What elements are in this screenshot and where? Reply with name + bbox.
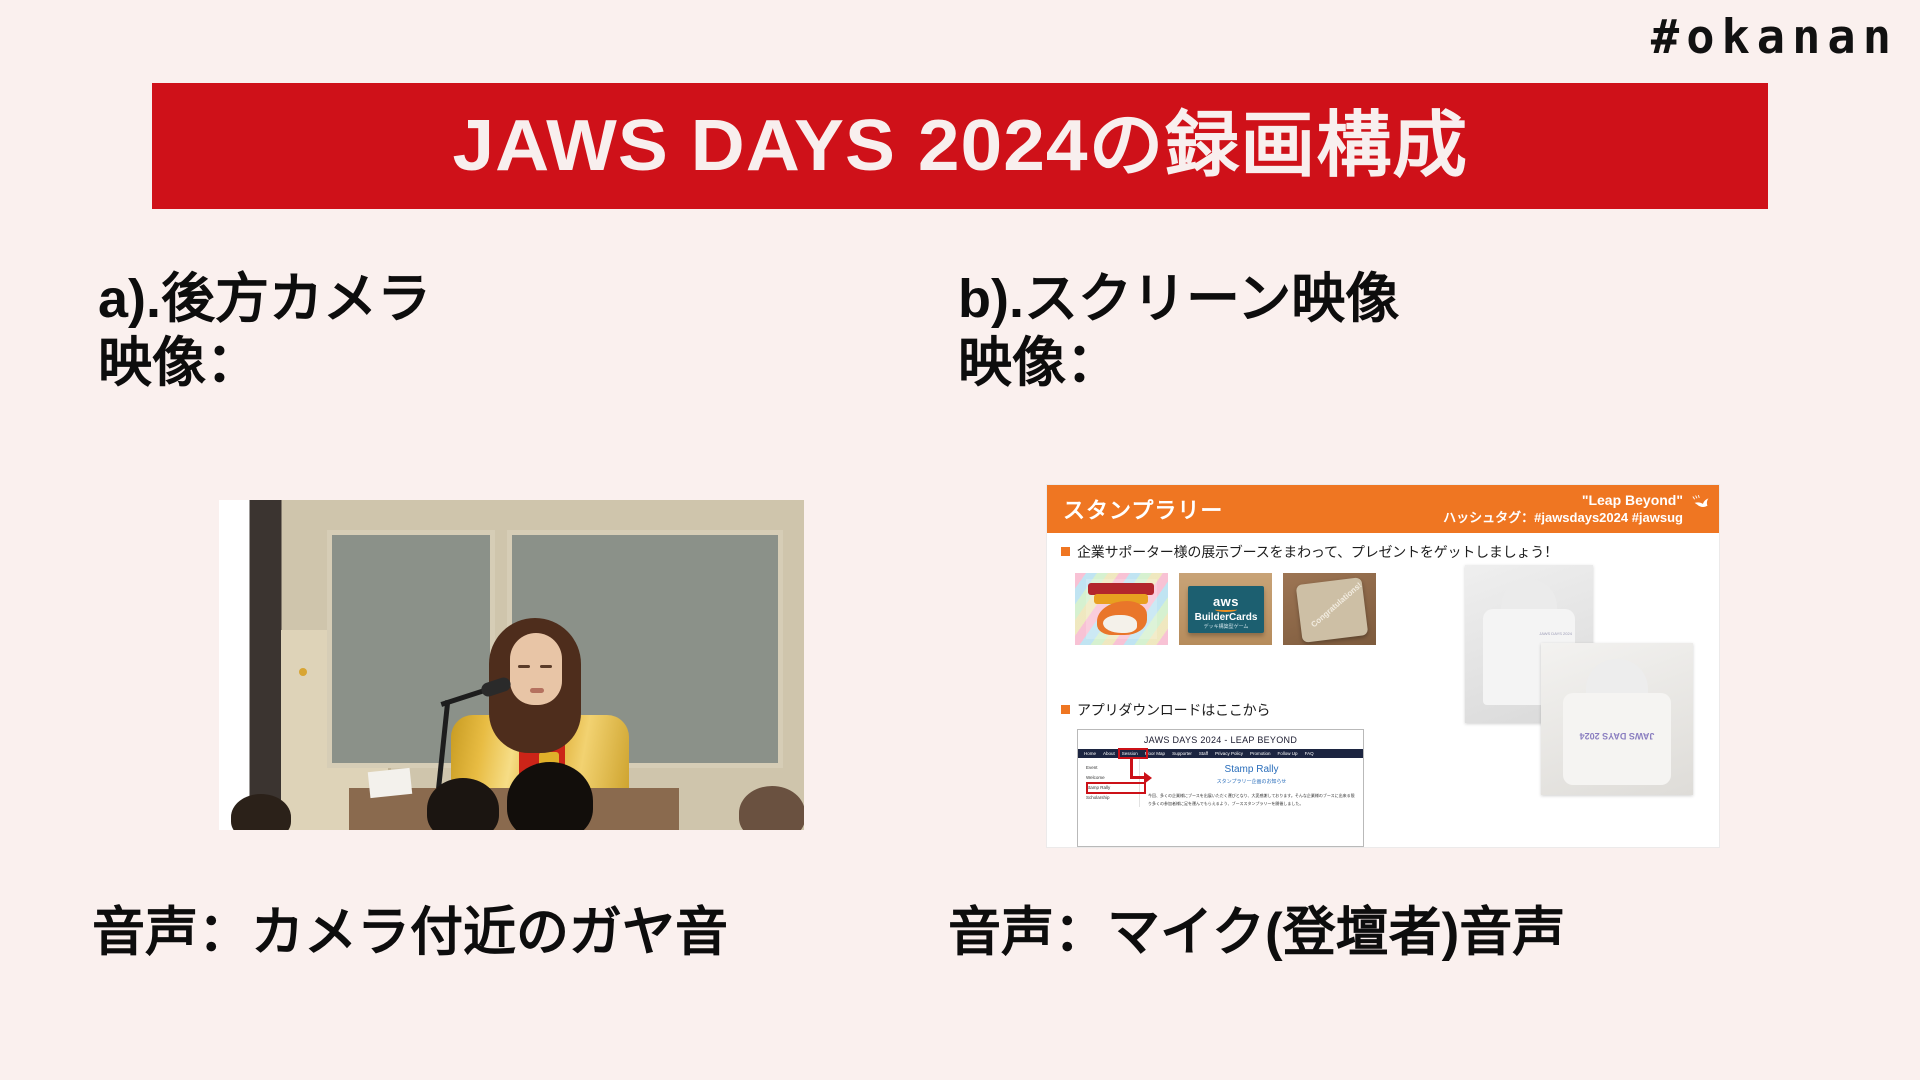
column-b-photo: スタンプラリー "Leap Beyond" ハッシュタグ：#jawsdays20… — [1046, 484, 1720, 848]
buildercards-title: BuilderCards — [1188, 612, 1264, 623]
captured-slide-tagline: "Leap Beyond" — [1443, 492, 1683, 510]
captured-slide-title: スタンプラリー — [1063, 493, 1223, 525]
browser-nav-faq[interactable]: FAQ — [1305, 751, 1314, 756]
captured-slide-bullet-1: 企業サポーター様の展示ブースをまわって、プレゼントをゲットしましょう！ — [1047, 542, 1719, 562]
browser-nav-staff[interactable]: Staff — [1199, 751, 1208, 756]
captured-slide-bullet-2: アプリダウンロードはここから — [1047, 700, 1270, 720]
hoodie-chest-print: JAWS DAYS 2024 — [1539, 631, 1572, 636]
browser-page-title: JAWS DAYS 2024 - LEAP BEYOND — [1078, 730, 1363, 749]
browser-nav-home[interactable]: Home — [1084, 751, 1096, 756]
column-a-photo — [219, 500, 804, 830]
page-title: JAWS DAYS 2024の録画構成 — [452, 110, 1468, 182]
prize-photo-row: aws BuilderCards デッキ構築型ゲーム Congratulatio… — [1075, 573, 1376, 645]
column-a-heading: a).後方カメラ 映像： — [98, 268, 431, 395]
photo-speaker-mouth — [530, 688, 544, 693]
column-b-heading: b).スクリーン映像 映像： — [958, 268, 1399, 395]
prize-sticker-photo — [1075, 573, 1168, 645]
prize-hoodie-back-photo: JAWS DAYS 2024 — [1541, 643, 1693, 795]
column-a-caption: 音声：カメラ付近のガヤ音 — [92, 890, 728, 966]
photo-speaker-eye-right — [540, 665, 552, 668]
prize-coaster-photo: Congratulations! — [1283, 573, 1376, 645]
prize-buildercards-photo: aws BuilderCards デッキ構築型ゲーム — [1179, 573, 1272, 645]
coaster-pad: Congratulations! — [1296, 577, 1369, 643]
browser-subheading: スタンプラリー企画のお知らせ — [1146, 778, 1357, 785]
photo-paper — [368, 768, 412, 798]
coaster-label: Congratulations! — [1309, 581, 1363, 630]
browser-main-content: Stamp Rally スタンプラリー企画のお知らせ 今回、多くの企業様にブース… — [1140, 758, 1363, 807]
captured-slide-header: スタンプラリー "Leap Beyond" ハッシュタグ：#jawsdays20… — [1047, 485, 1719, 533]
browser-nav-about[interactable]: About — [1103, 751, 1115, 756]
photo-audience-head — [739, 786, 804, 830]
buildercards-subtitle: デッキ構築型ゲーム — [1188, 623, 1264, 630]
browser-nav-supporter[interactable]: Supporter — [1172, 751, 1192, 756]
buildercards-box: aws BuilderCards デッキ構築型ゲーム — [1188, 586, 1264, 633]
captured-slide-hashtags: ハッシュタグ：#jawsdays2024 #jawsug — [1443, 510, 1683, 526]
sticker-shark-belly — [1103, 615, 1137, 633]
browser-sidebar-item-event[interactable]: Event — [1086, 763, 1135, 773]
browser-paragraph: 今回、多くの企業様にブースを出展いただく運びとなり、大変感謝しております。そんな… — [1146, 792, 1357, 807]
photo-speaker-eye-left — [518, 665, 530, 668]
photo-speaker-face — [510, 633, 562, 705]
browser-screenshot: JAWS DAYS 2024 - LEAP BEYOND Home About … — [1077, 729, 1364, 847]
browser-heading: Stamp Rally — [1146, 764, 1357, 775]
shark-logo-icon — [1691, 491, 1713, 513]
annotation-highlight-about — [1118, 748, 1148, 759]
captured-slide-bullet-text: 企業サポーター様の展示ブースをまわって、プレゼントをゲットしましょう！ — [1077, 542, 1558, 562]
annotation-highlight-stamp-rally — [1086, 782, 1146, 794]
title-banner: JAWS DAYS 2024の録画構成 — [152, 83, 1768, 209]
bullet-square-icon — [1061, 547, 1070, 556]
captured-slide-header-right: "Leap Beyond" ハッシュタグ：#jawsdays2024 #jaws… — [1443, 492, 1709, 526]
browser-nav-follow-up[interactable]: Follow Up — [1278, 751, 1298, 756]
hoodie-back-print: JAWS DAYS 2024 — [1580, 731, 1655, 741]
captured-slide-bullet-text: アプリダウンロードはここから — [1077, 700, 1270, 720]
browser-nav-privacy-policy[interactable]: Privacy Policy — [1215, 751, 1243, 756]
bullet-square-icon — [1061, 705, 1070, 714]
hashtag-label: #okanan — [1651, 10, 1898, 65]
photo-door-knob — [299, 668, 307, 676]
column-b-caption: 音声：マイク(登壇者)音声 — [948, 890, 1565, 966]
annotation-arrow-head — [1144, 772, 1152, 784]
slide-root: #okanan JAWS DAYS 2024の録画構成 a).後方カメラ 映像：… — [0, 0, 1920, 1080]
browser-nav-promotion[interactable]: Promotion — [1250, 751, 1271, 756]
photo-audience-head — [507, 762, 593, 830]
browser-sidebar-item-scholarship[interactable]: Scholarship — [1086, 793, 1135, 803]
